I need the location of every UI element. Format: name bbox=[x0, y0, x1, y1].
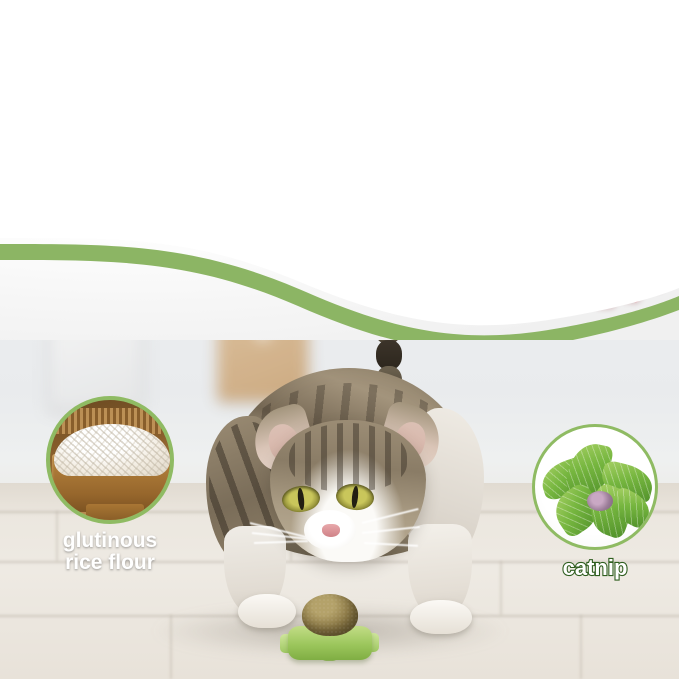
catnip-ball bbox=[302, 594, 358, 636]
cat-nose bbox=[322, 524, 340, 537]
ingredient-badge-catnip: catnip bbox=[528, 424, 662, 579]
header-panel: SAFE & HEALTHY FUN bbox=[0, 0, 679, 340]
badge-label-line-1: catnip bbox=[528, 556, 662, 579]
badge-label-line-2: rice flour bbox=[40, 552, 180, 574]
badge-label-catnip: catnip bbox=[528, 556, 662, 579]
green-catnip-ball-toy bbox=[280, 608, 380, 664]
badge-label-line-1: glutinous bbox=[40, 530, 180, 552]
badge-image-catnip bbox=[532, 424, 658, 550]
wavy-divider bbox=[0, 238, 679, 340]
badge-label-rice-flour: glutinous rice flour bbox=[40, 530, 180, 575]
badge-image-rice-flour bbox=[46, 396, 174, 524]
ingredient-badge-rice-flour: glutinous rice flour bbox=[40, 396, 180, 575]
product-feature-infographic: SAFE & HEALTHY FUN bbox=[0, 0, 679, 679]
cat-right-paw bbox=[410, 600, 472, 634]
